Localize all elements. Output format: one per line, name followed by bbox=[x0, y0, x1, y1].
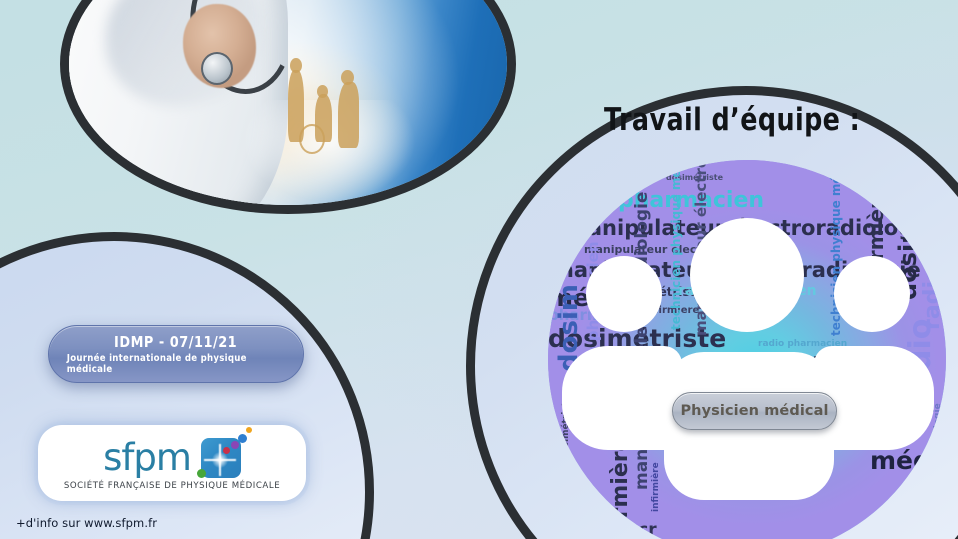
idmp-title: IDMP - 07/11/21 bbox=[114, 333, 237, 351]
word-cloud-term: pcr bbox=[926, 518, 946, 539]
idmp-banner[interactable]: IDMP - 07/11/21 Journée internationale d… bbox=[48, 325, 304, 383]
dot-red-icon bbox=[223, 447, 230, 454]
word-cloud-term: infirmière bbox=[652, 462, 661, 512]
word-cloud-term: radio pharmacien bbox=[758, 340, 847, 349]
word-cloud-term: infirmière bbox=[786, 372, 847, 383]
sfpm-wordmark: sfpm bbox=[103, 441, 191, 474]
word-cloud-term: manipulateur électroradiologie bbox=[634, 192, 651, 490]
presentation-slide: Travail d’équipe : manipulateur électror… bbox=[0, 0, 958, 539]
physicien-medical-pill[interactable]: Physicien médical bbox=[672, 392, 837, 430]
physicien-medical-label: Physicien médical bbox=[680, 403, 828, 419]
word-cloud-term: médecin bbox=[676, 458, 738, 471]
person-silhouette-head bbox=[290, 58, 302, 73]
idmp-subtitle: Journée internationale de physique médic… bbox=[67, 353, 285, 375]
word-cloud-term: radio pharmacien bbox=[922, 160, 944, 330]
doctor-photo bbox=[60, 0, 516, 214]
word-cloud-words: manipulateur électroradiologiemanipulate… bbox=[548, 160, 946, 539]
word-cloud-term: dosimét bbox=[896, 191, 920, 300]
sfpm-logo-row: sfpm bbox=[103, 438, 241, 478]
dot-purple-icon bbox=[231, 441, 239, 449]
word-cloud-term: pcr bbox=[660, 352, 679, 386]
word-cloud-term: dosim bbox=[556, 284, 582, 372]
word-cloud-term: électroradiologie bbox=[934, 403, 943, 490]
word-cloud: manipulateur électroradiologiemanipulate… bbox=[548, 160, 946, 539]
word-cloud-term: manipulateur électroradiologie bbox=[694, 160, 709, 336]
sfpm-logo-card[interactable]: sfpm SOCIÉTÉ FRANÇAISE DE PHYSIQUE MÉDIC… bbox=[38, 425, 306, 501]
word-cloud-term: infirmière bbox=[866, 186, 886, 296]
dot-blue-icon bbox=[238, 434, 247, 443]
word-cloud-term: radio pharmacien bbox=[586, 242, 601, 391]
word-cloud-term: infirmière bbox=[610, 436, 632, 539]
person-silhouette bbox=[338, 82, 359, 148]
footer-info: +d'info sur www.sfpm.fr bbox=[16, 516, 157, 530]
sfpm-square-starburst-icon bbox=[201, 438, 241, 478]
word-cloud-term: dosimétriste bbox=[562, 396, 571, 460]
doctor-photo-circle bbox=[60, 0, 516, 214]
page-title: Travail d’équipe : bbox=[604, 102, 860, 138]
sfpm-subtitle: SOCIÉTÉ FRANÇAISE DE PHYSIQUE MÉDICALE bbox=[64, 481, 280, 491]
word-cloud-term: médecin bbox=[786, 356, 848, 369]
word-cloud-term: technicien physique médicale bbox=[830, 160, 842, 336]
word-cloud-term: technicien physique médicale bbox=[670, 160, 682, 330]
dot-green-icon bbox=[197, 469, 206, 478]
person-silhouette-head bbox=[341, 70, 354, 85]
word-cloud-term: radio bbox=[906, 319, 936, 406]
dot-orange-icon bbox=[246, 427, 252, 433]
wheelchair-wheel-icon bbox=[299, 124, 325, 154]
